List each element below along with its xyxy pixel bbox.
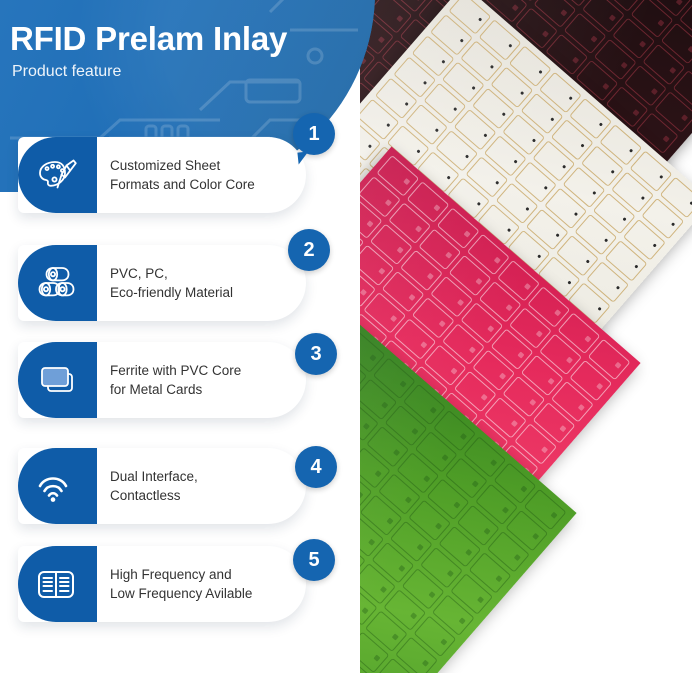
feature-badge-2-number: 2: [303, 239, 314, 262]
material-rolls-icon: [35, 262, 81, 304]
stacked-cards-icon: [34, 360, 82, 400]
palette-brush-icon: [35, 155, 81, 195]
feature-badge-3-number: 3: [310, 343, 321, 366]
feature-text-3-line2: for Metal Cards: [110, 380, 290, 399]
feature-icon-box-2: [18, 245, 97, 321]
feature-badge-2: 2: [288, 229, 330, 271]
feature-text-2-line1: PVC, PC,: [110, 264, 290, 283]
feature-text-1: Customized Sheet Formats and Color Core: [110, 156, 290, 194]
feature-badge-5: 5: [293, 539, 335, 581]
feature-icon-box-4: [18, 448, 97, 524]
feature-text-2: PVC, PC, Eco-friendly Material: [110, 264, 290, 302]
feature-text-5-line2: Low Frequency Avilable: [110, 584, 290, 603]
feature-badge-3: 3: [295, 333, 337, 375]
feature-text-5: High Frequency and Low Frequency Avilabl…: [110, 565, 290, 603]
feature-badge-4-number: 4: [310, 456, 321, 479]
feature-badge-5-number: 5: [308, 549, 319, 572]
feature-icon-box-1: [18, 137, 97, 213]
feature-icon-box-5: [18, 546, 97, 622]
feature-text-3: Ferrite with PVC Core for Metal Cards: [110, 361, 290, 399]
feature-text-2-line2: Eco-friendly Material: [110, 283, 290, 302]
contactless-wifi-icon: [35, 467, 81, 505]
product-photo: [360, 0, 692, 673]
feature-text-1-line2: Formats and Color Core: [110, 175, 290, 194]
chip-module-icon: [35, 566, 81, 602]
page-subtitle: Product feature: [12, 63, 121, 81]
page-title: RFID Prelam Inlay: [10, 20, 287, 58]
feature-text-4-line2: Contactless: [110, 486, 290, 505]
feature-badge-1-number: 1: [308, 123, 319, 146]
feature-text-4-line1: Dual Interface,: [110, 467, 290, 486]
feature-icon-box-3: [18, 342, 97, 418]
feature-text-1-line1: Customized Sheet: [110, 156, 290, 175]
feature-badge-4: 4: [295, 446, 337, 488]
feature-badge-1: 1: [293, 113, 335, 155]
feature-text-5-line1: High Frequency and: [110, 565, 290, 584]
product-feature-infographic: RFID Prelam Inlay Product feature: [0, 0, 692, 673]
feature-text-3-line1: Ferrite with PVC Core: [110, 361, 290, 380]
feature-text-4: Dual Interface, Contactless: [110, 467, 290, 505]
